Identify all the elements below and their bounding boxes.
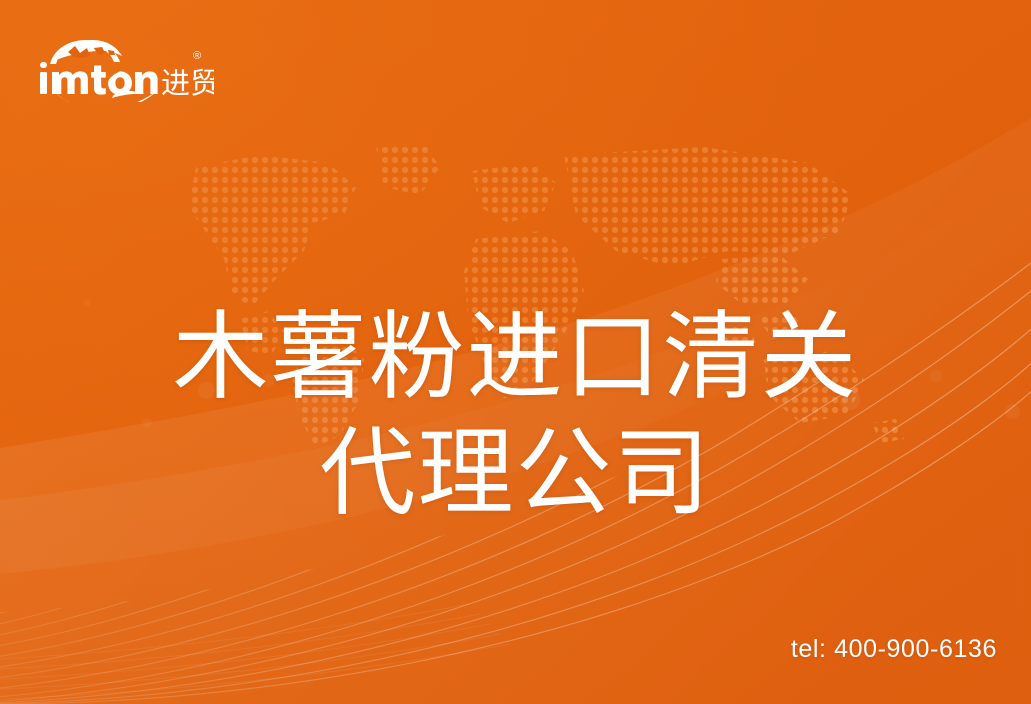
promo-banner: 进贸通 ® 木薯粉进口清关 代理公司 tel: 400-900-6136 — [0, 0, 1031, 704]
page-title: 木薯粉进口清关 代理公司 — [0, 300, 1031, 532]
globe-arc-icon — [50, 40, 122, 64]
registered-trademark-icon: ® — [193, 51, 201, 62]
logo-artwork: 进贸通 — [34, 26, 214, 102]
logo-wordmark-chinese: 进贸通 — [161, 66, 214, 100]
page-title-line-2: 代理公司 — [0, 416, 1031, 532]
imton-logo[interactable]: 进贸通 ® — [34, 26, 214, 102]
logo-wordmark-latin — [40, 62, 158, 95]
contact-phone[interactable]: tel: 400-900-6136 — [791, 634, 997, 664]
page-title-line-1: 木薯粉进口清关 — [0, 300, 1031, 416]
